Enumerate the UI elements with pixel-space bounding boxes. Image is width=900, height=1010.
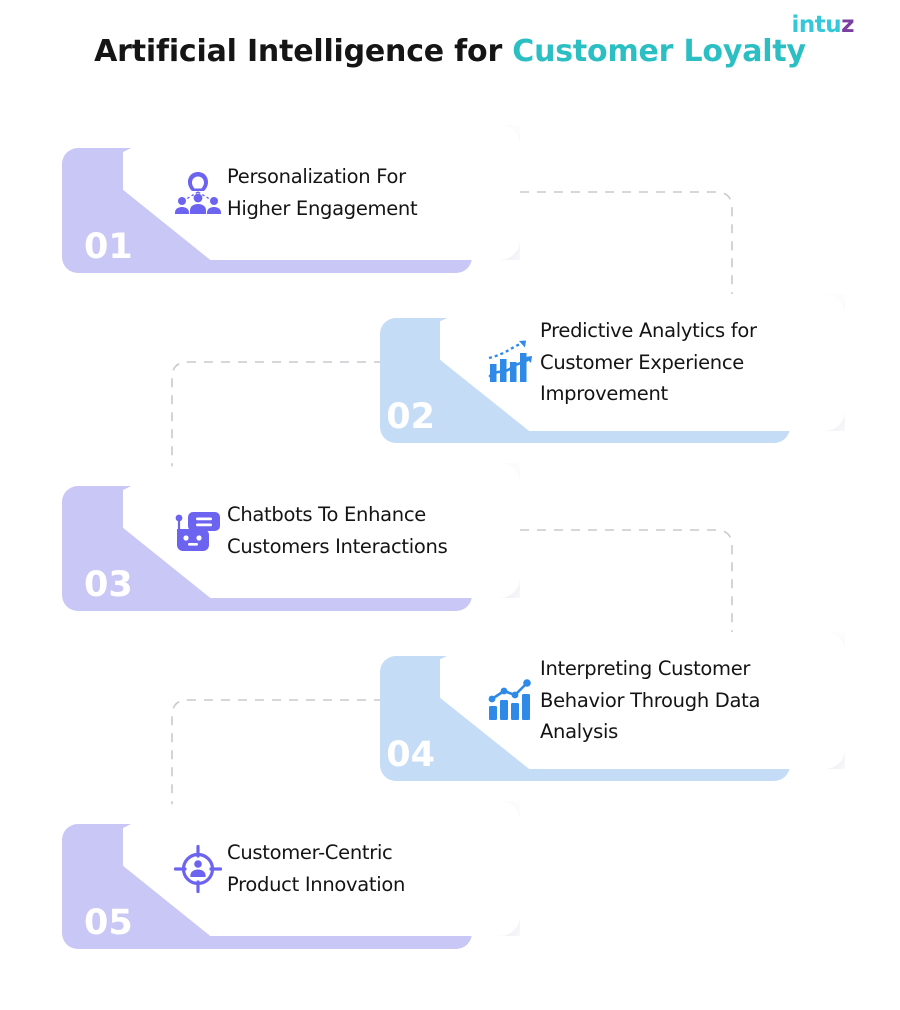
item-number: 04 [386, 738, 435, 773]
page-title: Artificial Intelligence for Customer Loy… [0, 34, 900, 69]
item-title-line1: Customer-Centric [227, 837, 405, 869]
target-customer-icon [169, 840, 227, 898]
item-title-line2: Customer Experience [540, 347, 757, 379]
chatbot-icon [169, 502, 227, 560]
item-title-line2: Behavior Through Data [540, 685, 760, 717]
item-number: 02 [386, 400, 435, 435]
item-title-line2: Higher Engagement [227, 193, 417, 225]
item-number: 05 [84, 906, 133, 941]
item-title-line1: Interpreting Customer [540, 653, 760, 685]
bar-chart-line-icon [482, 671, 540, 729]
item-title: Personalization For Higher Engagement [227, 161, 417, 224]
item-title-line2: Customers Interactions [227, 531, 447, 563]
item-title: Predictive Analytics for Customer Experi… [540, 315, 757, 410]
page-title-primary: Artificial Intelligence for [94, 34, 512, 69]
item-title: Chatbots To Enhance Customers Interactio… [227, 499, 447, 562]
item-title-line3: Analysis [540, 716, 760, 748]
page-title-accent: Customer Loyalty [512, 34, 806, 69]
item-title: Customer-Centric Product Innovation [227, 837, 405, 900]
item-title-line1: Predictive Analytics for [540, 315, 757, 347]
item-number: 01 [84, 230, 133, 265]
item-title-line3: Improvement [540, 378, 757, 410]
item-title-line2: Product Innovation [227, 869, 405, 901]
item-number: 03 [84, 568, 133, 603]
item-title-line1: Personalization For [227, 161, 417, 193]
item-title: Interpreting Customer Behavior Through D… [540, 653, 760, 748]
item-title-line1: Chatbots To Enhance [227, 499, 447, 531]
bar-chart-trend-up-icon [482, 333, 540, 391]
people-network-icon [169, 164, 227, 222]
